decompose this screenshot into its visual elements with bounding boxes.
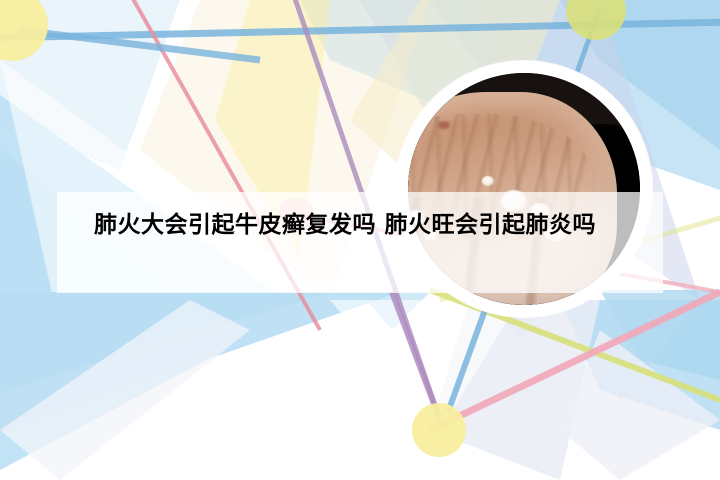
article-title: 肺火大会引起牛皮癣复发吗 肺火旺会引起肺炎吗	[94, 208, 642, 243]
article-header-card: 肺火大会引起牛皮癣复发吗 肺火旺会引起肺炎吗	[0, 0, 720, 480]
node-yellow-bottom	[412, 403, 466, 457]
title-panel: 肺火大会引起牛皮癣复发吗 肺火旺会引起肺炎吗	[57, 192, 663, 293]
